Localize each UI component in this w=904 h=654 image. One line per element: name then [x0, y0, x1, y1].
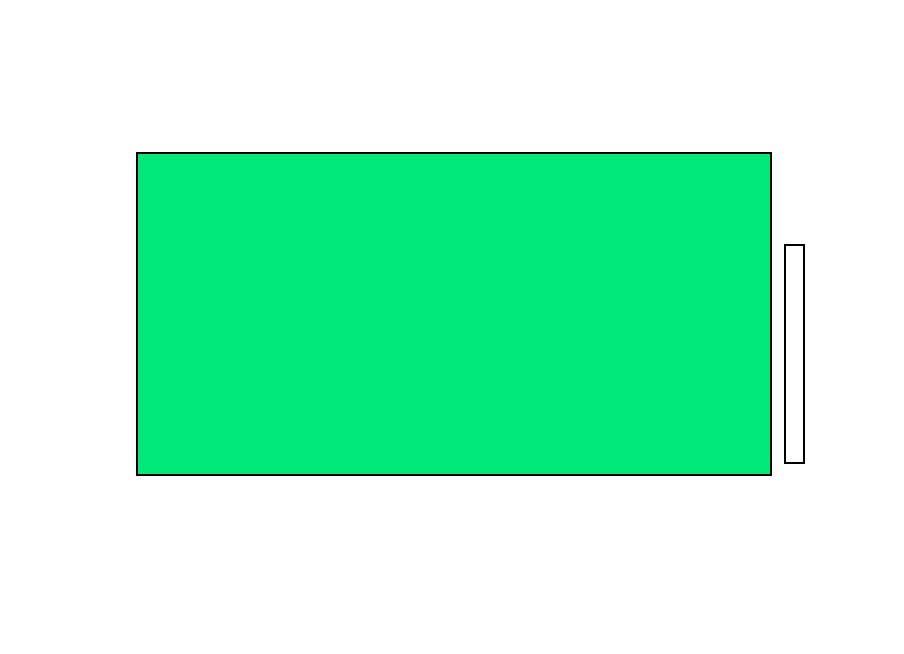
vertical-velocity-field — [138, 154, 770, 474]
colorbar[interactable] — [784, 244, 805, 464]
contour-plot-area[interactable] — [136, 152, 772, 476]
